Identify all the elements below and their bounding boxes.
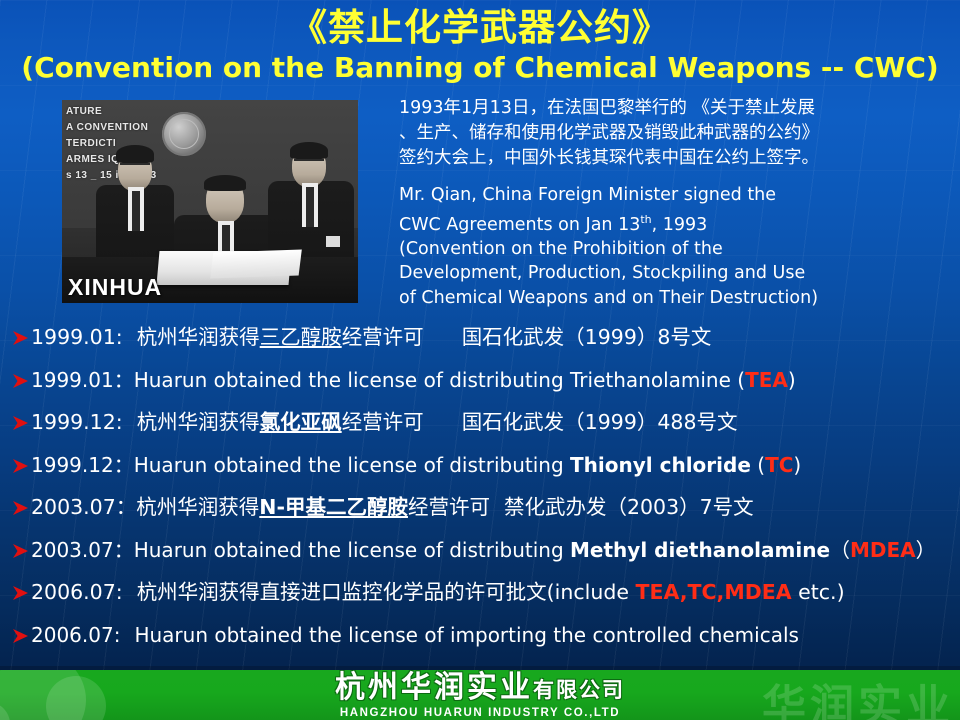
bullet-post: 经营许可 bbox=[342, 325, 424, 349]
bullet-date: 2006.07: bbox=[31, 580, 123, 604]
bullet-mid: ( bbox=[751, 453, 765, 477]
description-cn-line-1: 1993年1月13日，在法国巴黎举行的 《关于禁止发展 bbox=[399, 96, 951, 121]
list-item: 1999.12：Huarun obtained the license of d… bbox=[0, 444, 960, 487]
bullet-pre: 杭州华润获得 bbox=[137, 410, 260, 434]
description-en-line-3: (Convention on the Prohibition of the bbox=[399, 237, 951, 262]
list-item: 1999.01:杭州华润获得三乙醇胺经营许可国石化武发（1999）8号文 bbox=[0, 316, 960, 359]
list-item-text: 1999.12:杭州华润获得氯化亚砜经营许可国石化武发（1999）488号文 bbox=[31, 410, 738, 434]
bullet-chemical: Methyl diethanolamine bbox=[570, 538, 830, 562]
description-en-line-5: of Chemical Weapons and on Their Destruc… bbox=[399, 286, 951, 311]
bullet-pre: Huarun obtained the license of distribut… bbox=[134, 453, 570, 477]
bullet-doc-number: 禁化武办发（2003）7号文 bbox=[504, 495, 754, 519]
bullet-abbreviation: MDEA bbox=[850, 538, 916, 562]
list-item-text: 2003.07：杭州华润获得N-甲基二乙醇胺经营许可禁化武办发（2003）7号文 bbox=[31, 495, 754, 519]
bullet-date: 2003.07： bbox=[31, 495, 136, 519]
description-english: Mr. Qian, China Foreign Minister signed … bbox=[399, 183, 951, 310]
description-en-line-1: Mr. Qian, China Foreign Minister signed … bbox=[399, 183, 951, 208]
bullet-date: 1999.01: bbox=[31, 325, 123, 349]
backdrop-text-line-1: ATURE bbox=[66, 106, 102, 117]
description-chinese: 1993年1月13日，在法国巴黎举行的 《关于禁止发展 、生产、储存和使用化学武… bbox=[399, 96, 951, 171]
bullet-abbreviation: TEA,TC,MDEA bbox=[635, 580, 791, 604]
license-bullet-list: 1999.01:杭州华润获得三乙醇胺经营许可国石化武发（1999）8号文 199… bbox=[0, 316, 960, 656]
company-footer-banner: 华润实业 杭州华润实业有限公司 HANGZHOU HUARUN INDUSTRY… bbox=[0, 670, 960, 720]
list-item-text: 2006.07:杭州华润获得直接进口监控化学品的许可批文(include TEA… bbox=[31, 580, 845, 604]
bullet-pre: 杭州华润获得直接进口监控化学品的许可批文(include bbox=[137, 580, 636, 604]
list-item-text: 2006.07:Huarun obtained the license of i… bbox=[31, 623, 799, 647]
bullet-date: 1999.01： bbox=[31, 368, 134, 392]
title-block: 《禁止化学武器公约》 (Convention on the Banning of… bbox=[0, 6, 960, 86]
bullet-post: 经营许可 bbox=[408, 495, 490, 519]
company-name-english: HANGZHOU HUARUN INDUSTRY CO.,LTD bbox=[0, 706, 960, 720]
list-item: 2006.07:杭州华润获得直接进口监控化学品的许可批文(include TEA… bbox=[0, 571, 960, 614]
page-title-english: (Convention on the Banning of Chemical W… bbox=[0, 50, 960, 86]
description-cn-line-2: 、生产、储存和使用化学武器及销毁此种武器的公约》 bbox=[399, 121, 951, 146]
list-item: 2003.07：Huarun obtained the license of d… bbox=[0, 529, 960, 572]
bullet-post: ) bbox=[788, 368, 796, 392]
bullet-abbreviation: TC bbox=[765, 453, 793, 477]
bullet-post: etc.) bbox=[792, 580, 845, 604]
arrow-bullet-icon bbox=[12, 330, 29, 346]
photo-document-pages-right bbox=[210, 249, 302, 278]
description-cn-line-3: 签约大会上，中国外长钱其琛代表中国在公约上签字。 bbox=[399, 146, 951, 171]
arrow-bullet-icon bbox=[12, 458, 29, 474]
bullet-pre: Huarun obtained the license of distribut… bbox=[134, 538, 570, 562]
list-item: 2003.07：杭州华润获得N-甲基二乙醇胺经营许可禁化武办发（2003）7号文 bbox=[0, 486, 960, 529]
bullet-doc-number: 国石化武发（1999）488号文 bbox=[462, 410, 738, 434]
slide-canvas: 《禁止化学武器公约》 (Convention on the Banning of… bbox=[0, 0, 960, 720]
bullet-doc-number: 国石化武发（1999）8号文 bbox=[462, 325, 712, 349]
bullet-chemical: Thionyl chloride bbox=[570, 453, 751, 477]
bullet-pre: 杭州华润获得 bbox=[137, 325, 260, 349]
arrow-bullet-icon bbox=[12, 500, 29, 516]
bullet-post: 经营许可 bbox=[342, 410, 424, 434]
list-item: 1999.01：Huarun obtained the license of d… bbox=[0, 359, 960, 402]
company-logo: 杭州华润实业有限公司 HANGZHOU HUARUN INDUSTRY CO.,… bbox=[0, 670, 960, 720]
bullet-date: 1999.12: bbox=[31, 410, 123, 434]
arrow-bullet-icon bbox=[12, 373, 29, 389]
bullet-date: 1999.12： bbox=[31, 453, 134, 477]
list-item-text: 1999.12：Huarun obtained the license of d… bbox=[31, 453, 801, 477]
arrow-bullet-icon bbox=[12, 585, 29, 601]
backdrop-text-line-2: A CONVENTION bbox=[66, 122, 148, 133]
arrow-bullet-icon bbox=[12, 415, 29, 431]
description-en-line-2-text: CWC Agreements on Jan 13 bbox=[399, 214, 640, 234]
bullet-pre: Huarun obtained the license of distribut… bbox=[134, 368, 745, 392]
bullet-chemical: 氯化亚砜 bbox=[260, 410, 342, 434]
bullet-mid: （ bbox=[830, 538, 850, 562]
bullet-chemical: N-甲基二乙醇胺 bbox=[259, 495, 408, 519]
bullet-pre: 杭州华润获得 bbox=[136, 495, 259, 519]
list-item: 2006.07:Huarun obtained the license of i… bbox=[0, 614, 960, 657]
list-item-text: 1999.01:杭州华润获得三乙醇胺经营许可国石化武发（1999）8号文 bbox=[31, 325, 711, 349]
bullet-pre: Huarun obtained the license of importing… bbox=[134, 623, 799, 647]
company-name-suffix: 有限公司 bbox=[533, 678, 625, 702]
bullet-date: 2003.07： bbox=[31, 538, 134, 562]
list-item: 1999.12:杭州华润获得氯化亚砜经营许可国石化武发（1999）488号文 bbox=[0, 401, 960, 444]
bullet-post: ） bbox=[916, 538, 936, 562]
page-title-chinese: 《禁止化学武器公约》 bbox=[0, 6, 960, 50]
ordinal-suffix: th bbox=[640, 213, 651, 226]
list-item-text: 1999.01：Huarun obtained the license of d… bbox=[31, 368, 796, 392]
arrow-bullet-icon bbox=[12, 628, 29, 644]
bullet-chemical: 三乙醇胺 bbox=[260, 325, 342, 349]
arrow-bullet-icon bbox=[12, 543, 29, 559]
description-en-line-2: CWC Agreements on Jan 13th, 1993 bbox=[399, 208, 951, 237]
bullet-post: ) bbox=[793, 453, 801, 477]
signing-ceremony-photo: ATURE A CONVENTION TERDICTI ARMES IQUES … bbox=[62, 100, 358, 303]
description-en-line-4: Development, Production, Stockpiling and… bbox=[399, 261, 951, 286]
list-item-text: 2003.07：Huarun obtained the license of d… bbox=[31, 538, 936, 562]
xinhua-watermark: XINHUA bbox=[68, 274, 162, 301]
description-en-line-2-year: , 1993 bbox=[652, 214, 708, 234]
bullet-date: 2006.07: bbox=[31, 623, 120, 647]
company-name-main: 杭州华润实业 bbox=[335, 670, 533, 705]
bullet-abbreviation: TEA bbox=[745, 368, 788, 392]
company-name-chinese: 杭州华润实业有限公司 bbox=[0, 672, 960, 706]
